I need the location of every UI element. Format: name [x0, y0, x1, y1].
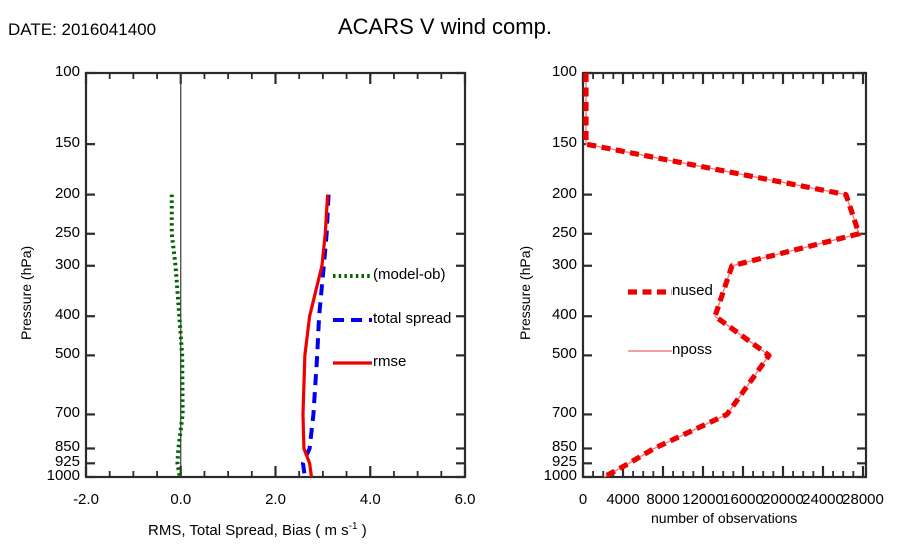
left-y-tick-label: 500 [30, 345, 80, 362]
left-x-tick-label: 4.0 [352, 491, 388, 508]
left-y-tick-label: 200 [30, 185, 80, 202]
right-y-tick-label: 500 [527, 345, 577, 362]
right-x-tick-label: 20000 [761, 491, 805, 508]
right-x-tick-label: 8000 [641, 491, 685, 508]
left-legend-label-0: (model-ob) [373, 266, 446, 283]
right-plot-svg [0, 0, 900, 560]
right-y-tick-label: 150 [527, 134, 577, 151]
right-x-tick-label: 24000 [801, 491, 845, 508]
left-y-tick-label: 250 [30, 224, 80, 241]
left-y-tick-label: 300 [30, 256, 80, 273]
right-x-axis-title: number of observations [651, 510, 797, 526]
left-y-tick-label: 100 [30, 63, 80, 80]
left-x-tick-label: 6.0 [447, 491, 483, 508]
right-y-tick-label: 250 [527, 224, 577, 241]
left-x-tick-label: 2.0 [258, 491, 294, 508]
left-legend-label-2: rmse [373, 353, 406, 370]
right-x-tick-label: 4000 [601, 491, 645, 508]
left-x-tick-label: -2.0 [68, 491, 104, 508]
right-plot-panel: Pressure (hPa) number of observations [0, 0, 900, 560]
right-y-tick-label: 100 [527, 63, 577, 80]
left-y-tick-label: 700 [30, 404, 80, 421]
left-x-tick-label: 0.0 [163, 491, 199, 508]
right-x-tick-label: 0 [561, 491, 605, 508]
right-y-tick-label: 700 [527, 404, 577, 421]
right-y-tick-label: 200 [527, 185, 577, 202]
right-x-tick-label: 16000 [721, 491, 765, 508]
right-legend-label-1: nposs [672, 341, 712, 358]
left-y-tick-label: 1000 [30, 467, 80, 484]
right-legend-label-0: nused [672, 282, 713, 299]
right-series-nposs [586, 73, 859, 477]
right-y-tick-label: 400 [527, 306, 577, 323]
left-legend-label-1: total spread [373, 310, 451, 327]
left-y-tick-label: 400 [30, 306, 80, 323]
right-y-tick-label: 1000 [527, 467, 577, 484]
right-x-tick-label: 12000 [681, 491, 725, 508]
right-y-tick-label: 300 [527, 256, 577, 273]
left-y-tick-label: 150 [30, 134, 80, 151]
right-x-tick-label: 28000 [841, 491, 885, 508]
